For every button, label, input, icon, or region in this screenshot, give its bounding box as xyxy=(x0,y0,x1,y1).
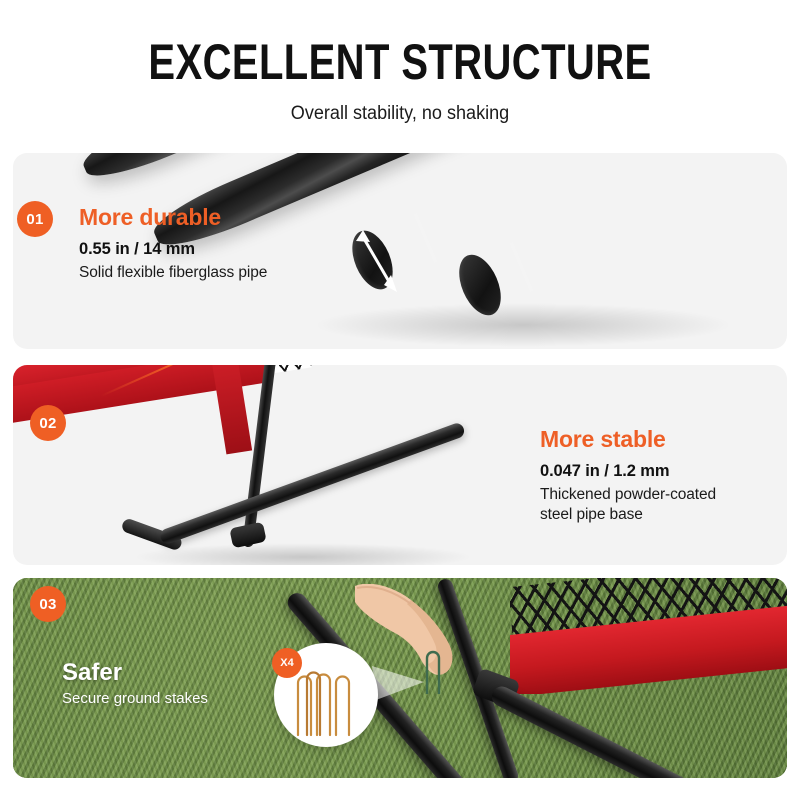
page-title: EXCELLENT STRUCTURE xyxy=(80,36,720,88)
feature-number-badge-01: 01 xyxy=(17,201,53,237)
feature-description-01: Solid flexible fiberglass pipe xyxy=(79,263,339,283)
page-subtitle: Overall stability, no shaking xyxy=(20,102,780,126)
feature-heading-01: More durable xyxy=(79,203,339,231)
infographic-page: EXCELLENT STRUCTURE Overall stability, n… xyxy=(0,0,800,800)
feature-heading-03: Safer xyxy=(62,659,302,687)
red-net-assembly xyxy=(510,578,787,694)
feature-number-badge-03: 03 xyxy=(30,586,66,622)
feature-number-badge-02: 02 xyxy=(30,405,66,441)
base-shadow xyxy=(133,543,473,565)
diameter-arrow-icon xyxy=(351,225,411,297)
pipe-shadow xyxy=(313,303,733,347)
feature-description-03: Secure ground stakes xyxy=(62,689,302,709)
pointer-arrow-icon xyxy=(372,660,424,704)
feature-text-03: Safer Secure ground stakes xyxy=(62,659,302,709)
feature-description-02-line2: steel pipe base xyxy=(540,505,785,525)
base-tube-right xyxy=(158,421,466,545)
feature-heading-02: More stable xyxy=(540,425,785,453)
upright-pole xyxy=(242,365,276,548)
stakes-quantity-badge: X4 xyxy=(272,648,302,678)
header: EXCELLENT STRUCTURE Overall stability, n… xyxy=(0,0,800,145)
feature-text-01: More durable 0.55 in / 14 mm Solid flexi… xyxy=(79,203,339,283)
feature-spec-02: 0.047 in / 1.2 mm xyxy=(540,460,785,482)
feature-spec-01: 0.55 in / 14 mm xyxy=(79,238,339,260)
stake-being-inserted xyxy=(423,644,443,696)
feature-description-02-line1: Thickened powder-coated xyxy=(540,485,785,505)
feature-text-02: More stable 0.047 in / 1.2 mm Thickened … xyxy=(540,425,785,525)
